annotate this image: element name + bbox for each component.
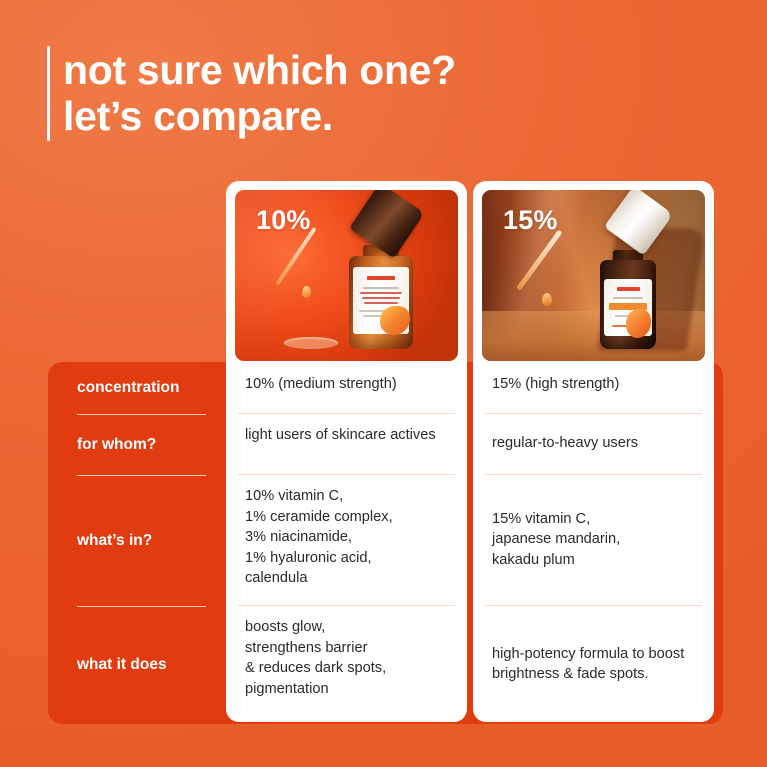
product-image-15: 15% <box>482 190 705 361</box>
cell-whats-in-10: 10% vitamin C, 1% ceramide complex, 3% n… <box>226 474 467 605</box>
serum-puddle <box>284 337 338 349</box>
serum-bottle-icon <box>349 236 414 349</box>
cell-what-it-does-15: high-potency formula to boost brightness… <box>473 605 714 722</box>
cell-for-whom-15: regular-to-heavy users <box>473 413 714 474</box>
product-column-15[interactable]: 15% 15% (high strength) regular-to-heavy… <box>473 181 714 722</box>
serum-drop-icon <box>302 286 311 298</box>
cell-whats-in-15: 15% vitamin C, japanese mandarin, kakadu… <box>473 474 714 605</box>
heading-accent-rule <box>47 46 50 141</box>
product-image-10: 10% <box>235 190 458 361</box>
page-title: not sure which one?let’s compare. <box>63 46 456 141</box>
cell-concentration-15: 15% (high strength) <box>473 361 714 413</box>
serum-bottle-icon <box>600 243 656 349</box>
row-label-whats-in: what’s in? <box>77 475 208 606</box>
comparison-cells-10: 10% (medium strength) light users of ski… <box>226 361 467 722</box>
heading-line-1: not sure which one? <box>63 47 456 93</box>
page-heading: not sure which one?let’s compare. <box>47 46 456 141</box>
row-label-text: for whom? <box>77 435 156 455</box>
row-label-text: concentration <box>77 378 179 398</box>
cell-concentration-10: 10% (medium strength) <box>226 361 467 413</box>
row-label-text: what’s in? <box>77 531 152 551</box>
product-column-10[interactable]: 10% 10% (medium strength) light users of… <box>226 181 467 722</box>
cell-for-whom-10: light users of skincare actives <box>226 413 467 474</box>
row-label-for-whom: for whom? <box>77 414 208 475</box>
comparison-infographic: not sure which one?let’s compare. concen… <box>0 0 767 767</box>
heading-line-2: let’s compare. <box>63 93 333 139</box>
row-label-column: concentration for whom? what’s in? what … <box>48 362 226 724</box>
comparison-cells-15: 15% (high strength) regular-to-heavy use… <box>473 361 714 722</box>
cell-what-it-does-10: boosts glow, strengthens barrier & reduc… <box>226 605 467 722</box>
concentration-badge-15: 15% <box>503 205 558 236</box>
row-label-what-it-does: what it does <box>77 606 208 724</box>
row-label-text: what it does <box>77 655 167 675</box>
row-label-concentration: concentration <box>77 362 208 414</box>
concentration-badge-10: 10% <box>256 205 311 236</box>
